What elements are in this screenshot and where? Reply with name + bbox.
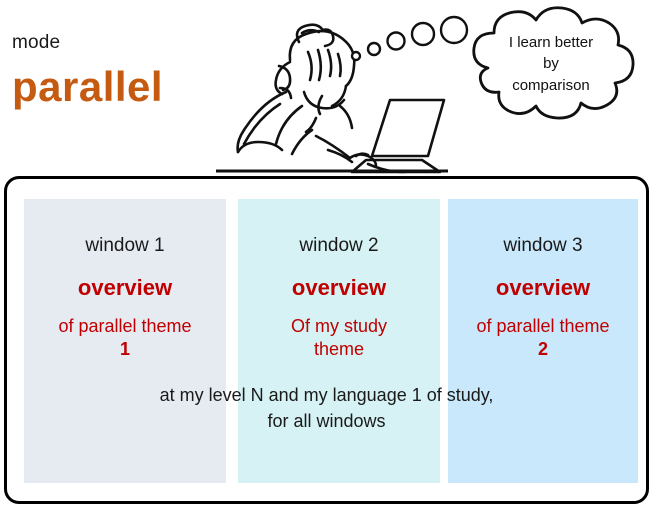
window-1-desc-emphasis: 1 <box>24 338 226 361</box>
window-2-overview-label: overview <box>238 275 440 301</box>
window-2-title: window 2 <box>238 235 440 257</box>
thought-bubble-text: I learn better by comparison <box>472 32 630 96</box>
bubble-line-1: I learn better <box>472 32 630 53</box>
header-area: mode parallel <box>0 0 656 176</box>
bubble-line-3: comparison <box>472 75 630 96</box>
window-1-desc-text: of parallel theme <box>58 316 191 336</box>
window-3-description: of parallel theme 2 <box>448 315 638 361</box>
window-2-description: Of my study theme <box>238 315 440 361</box>
window-1-title: window 1 <box>24 235 226 257</box>
window-3-desc-text: of parallel theme <box>476 316 609 336</box>
window-2-desc-text: Of my study <box>291 316 387 336</box>
mode-label: mode <box>12 32 60 54</box>
window-panel-2[interactable]: window 2 overview Of my study theme <box>238 199 440 483</box>
window-1-description: of parallel theme 1 <box>24 315 226 361</box>
bubble-line-2: by <box>472 53 630 74</box>
window-3-overview-label: overview <box>448 275 638 301</box>
mode-value: parallel <box>12 66 163 108</box>
window-3-title: window 3 <box>448 235 638 257</box>
window-panel-3[interactable]: window 3 overview of parallel theme 2 <box>448 199 638 483</box>
window-2-desc-emphasis: theme <box>238 338 440 361</box>
window-1-overview-label: overview <box>24 275 226 301</box>
window-3-desc-emphasis: 2 <box>448 338 638 361</box>
window-panel-1[interactable]: window 1 overview of parallel theme 1 <box>24 199 226 483</box>
windows-container: window 1 overview of parallel theme 1 wi… <box>4 176 649 504</box>
